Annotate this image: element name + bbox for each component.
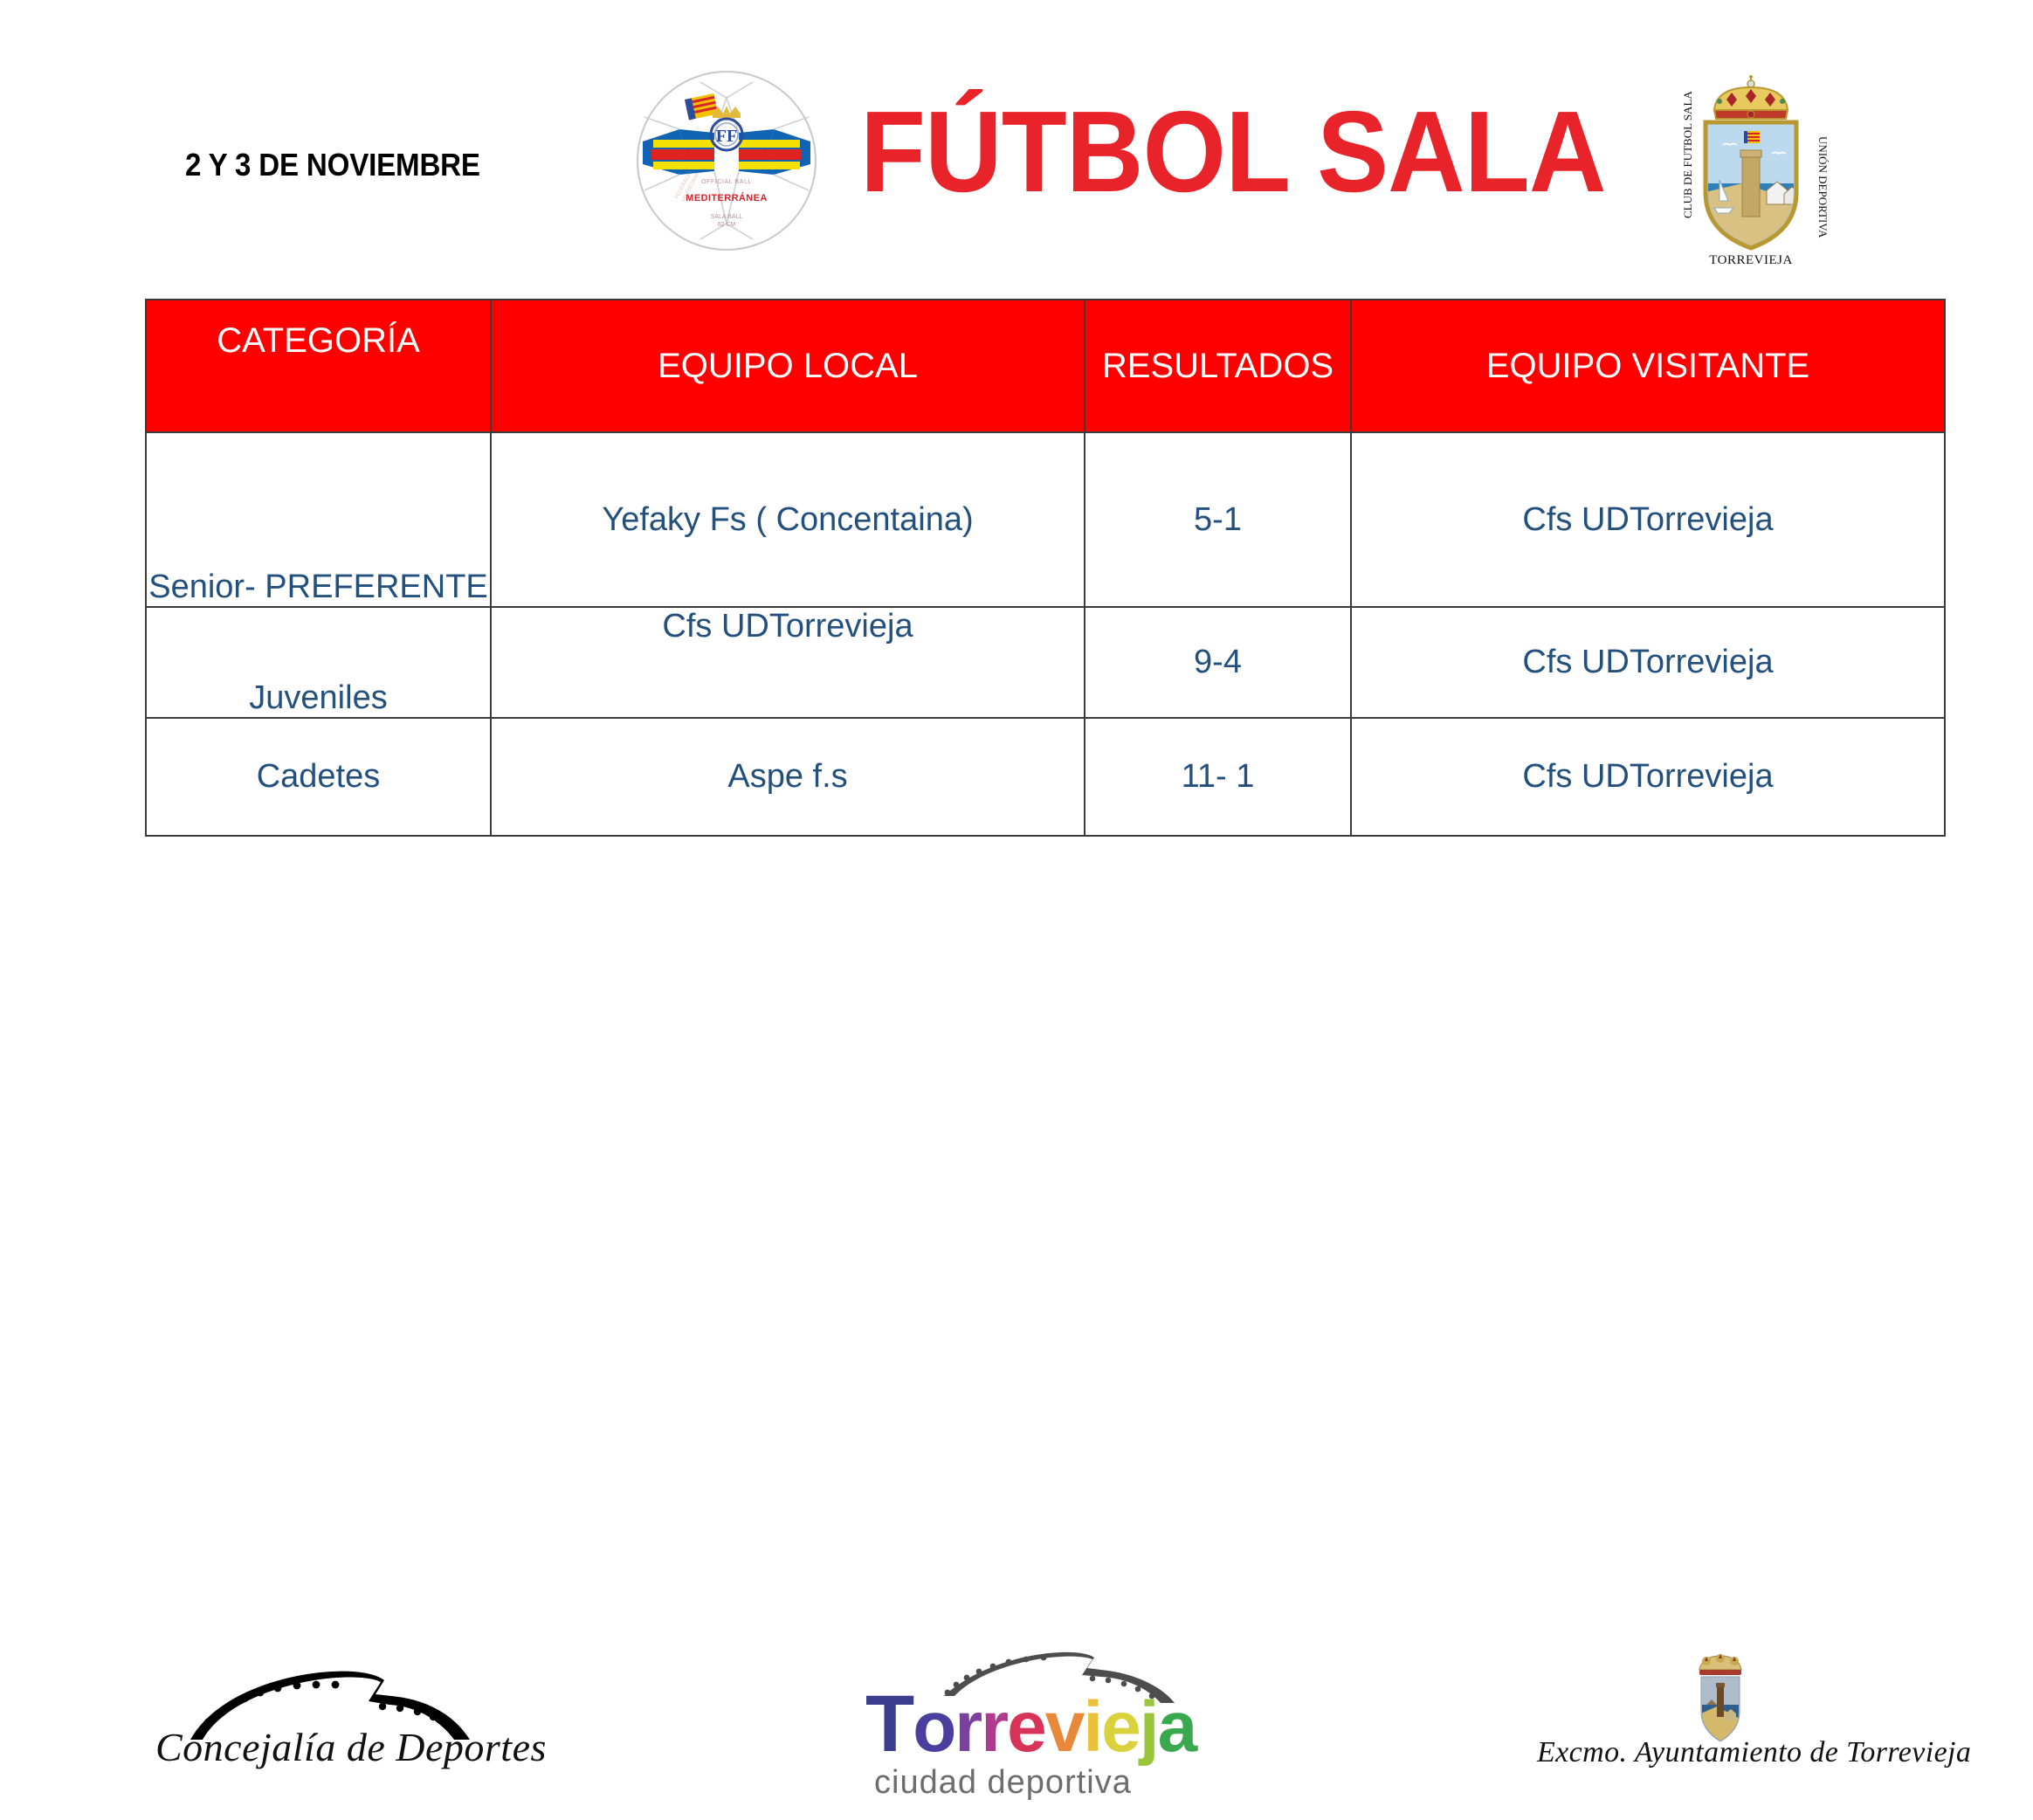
svg-text:MEDITERRÁNEA: MEDITERRÁNEA — [686, 192, 767, 203]
table-header-row: CATEGORÍA EQUIPO LOCAL RESULTADOS EQUIPO… — [146, 300, 1945, 432]
table-row: Juveniles Cfs UDTorrevieja 9-4 Cfs UDTor… — [146, 607, 1945, 718]
poster-footer: Concejalía de Deportes Torrevieja ciudad… — [0, 821, 2033, 1090]
concejalia-label: Concejalía de Deportes — [155, 1724, 547, 1770]
svg-text:OFFICIAL BALL: OFFICIAL BALL — [701, 179, 752, 185]
cell-resultado: 11- 1 — [1085, 718, 1351, 836]
cell-equipo-local: Aspe f.s — [491, 718, 1085, 836]
cfs-ud-torrevieja-crest-icon: CLUB DE FUTBOL SALA UNIÓN DEPORTIVA TORR… — [1664, 61, 1838, 271]
column-header-equipo-visitante: EQUIPO VISITANTE — [1351, 300, 1945, 432]
torrevieja-wordmark: Torrevieja — [865, 1679, 1196, 1770]
cell-categoria: Senior- PREFERENTE — [146, 432, 491, 607]
svg-text:62 CM: 62 CM — [718, 222, 736, 228]
poster-header: 2 Y 3 DE NOVIEMBRE — [0, 0, 2033, 299]
cell-equipo-local: Cfs UDTorrevieja — [491, 607, 1085, 718]
torrevieja-ciudad-deportiva-logo: Torrevieja ciudad deportiva — [860, 1652, 1236, 1818]
cell-resultado: 9-4 — [1085, 607, 1351, 718]
cell-equipo-visitante: Cfs UDTorrevieja — [1351, 607, 1945, 718]
svg-text:UNIÓN DEPORTIVA: UNIÓN DEPORTIVA — [1816, 136, 1830, 238]
torrevieja-subtitle: ciudad deportiva — [874, 1764, 1132, 1802]
date-label: 2 Y 3 DE NOVIEMBRE — [185, 147, 480, 183]
svg-text:SALA BALL: SALA BALL — [711, 214, 743, 220]
svg-text:CLUB DE FUTBOL SALA: CLUB DE FUTBOL SALA — [1681, 91, 1694, 218]
column-header-categoria: CATEGORÍA — [146, 300, 491, 432]
cell-equipo-visitante: Cfs UDTorrevieja — [1351, 718, 1945, 836]
column-header-equipo-local: EQUIPO LOCAL — [491, 300, 1085, 432]
ayuntamiento-label: Excmo. Ayuntamiento de Torrevieja — [1537, 1736, 1971, 1769]
svg-text:TORREVIEJA: TORREVIEJA — [1709, 253, 1793, 267]
results-table: CATEGORÍA EQUIPO LOCAL RESULTADOS EQUIPO… — [145, 299, 1946, 837]
concejalia-de-deportes-logo: Concejalía de Deportes — [166, 1659, 515, 1817]
svg-text:FF: FF — [716, 127, 737, 146]
table-row: Senior- PREFERENTE Yefaky Fs ( Concentai… — [146, 432, 1945, 607]
cell-equipo-local: Yefaky Fs ( Concentaina) — [491, 432, 1085, 607]
cell-resultado: 5-1 — [1085, 432, 1351, 607]
excmo-ayuntamiento-de-torrevieja-logo: Excmo. Ayuntamiento de Torrevieja — [1537, 1649, 1904, 1820]
cell-categoria: Cadetes — [146, 718, 491, 836]
cell-equipo-visitante: Cfs UDTorrevieja — [1351, 432, 1945, 607]
cell-categoria: Juveniles — [146, 607, 491, 718]
ffcv-mediterranea-ball-icon: FF OFFICIAL BALL MEDITERRÁNEA SALA BALL … — [634, 68, 819, 253]
page-title: FÚTBOL SALA — [860, 94, 1606, 210]
table-row: Cadetes Aspe f.s 11- 1 Cfs UDTorrevieja — [146, 718, 1945, 836]
column-header-resultados: RESULTADOS — [1085, 300, 1351, 432]
